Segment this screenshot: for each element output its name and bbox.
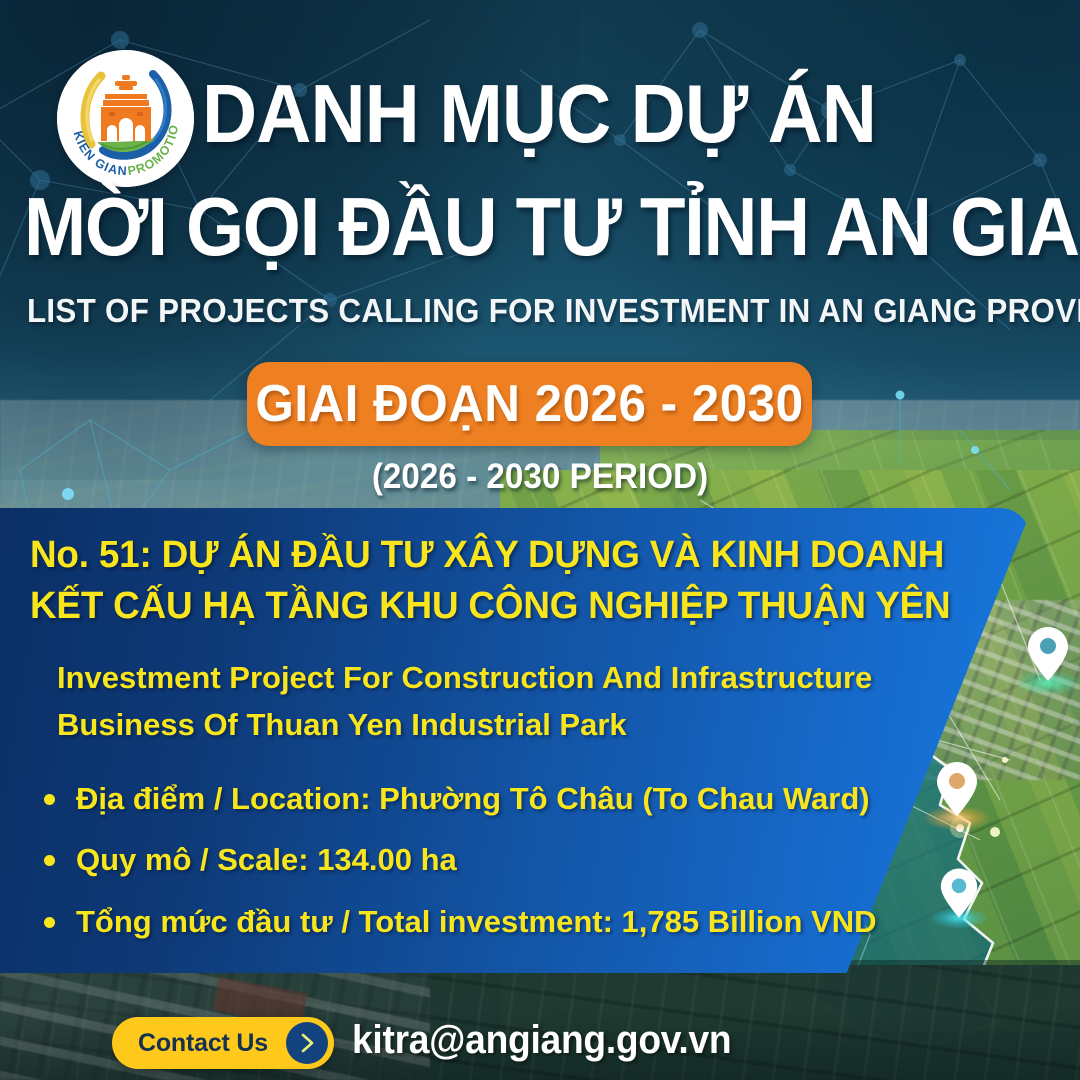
contact-us-label: Contact Us bbox=[138, 1029, 268, 1058]
map-pin-2 bbox=[935, 760, 979, 834]
map-pin-icon bbox=[935, 760, 979, 820]
map-pin-1 bbox=[1026, 625, 1070, 699]
list-item: Địa điểm / Location: Phường Tô Châu (To … bbox=[38, 780, 998, 818]
bullet-icon bbox=[44, 794, 55, 805]
map-pin-3 bbox=[939, 866, 979, 936]
project-panel-wrapper: No. 51: DỰ ÁN ĐẦU TƯ XÂY DỰNG VÀ KINH DO… bbox=[0, 508, 1080, 978]
contact-us-button[interactable]: Contact Us bbox=[112, 1017, 334, 1069]
bullet-icon bbox=[44, 855, 55, 866]
bullet-icon bbox=[44, 917, 55, 928]
fact-scale: Quy mô / Scale: 134.00 ha bbox=[76, 842, 457, 877]
chevron-right-glyph bbox=[295, 1031, 319, 1055]
project-title-vi: No. 51: DỰ ÁN ĐẦU TƯ XÂY DỰNG VÀ KINH DO… bbox=[30, 530, 981, 632]
period-label-en: (2026 - 2030 PERIOD) bbox=[27, 457, 1053, 497]
fact-total-investment: Tổng mức đầu tư / Total investment: 1,78… bbox=[76, 904, 876, 939]
poster-canvas: KIEN GIANG PROMOTION DANH MỤC DỰ ÁN MỜI … bbox=[0, 0, 1080, 1080]
contact-email[interactable]: kitra@angiang.gov.vn bbox=[352, 1018, 731, 1063]
list-item: Quy mô / Scale: 134.00 ha bbox=[38, 841, 998, 879]
period-badge-label: GIAI ĐOẠN 2026 - 2030 bbox=[255, 374, 803, 434]
map-pin-icon bbox=[1026, 625, 1070, 685]
logo-mark: KIEN GIANG PROMOTION bbox=[57, 50, 194, 187]
chevron-right-icon bbox=[286, 1022, 328, 1064]
project-title-en: Investment Project For Construction And … bbox=[57, 655, 987, 748]
map-pin-icon bbox=[939, 866, 979, 922]
page-title-vi-line1: DANH MỤC DỰ ÁN bbox=[202, 75, 993, 154]
project-panel-content: No. 51: DỰ ÁN ĐẦU TƯ XÂY DỰNG VÀ KINH DO… bbox=[0, 508, 1030, 973]
page-title-en: LIST OF PROJECTS CALLING FOR INVESTMENT … bbox=[27, 292, 1053, 330]
fact-location: Địa điểm / Location: Phường Tô Châu (To … bbox=[76, 781, 870, 816]
kien-giang-promotion-logo: KIEN GIANG PROMOTION bbox=[57, 50, 194, 187]
project-facts-list: Địa điểm / Location: Phường Tô Châu (To … bbox=[38, 780, 998, 964]
period-badge: GIAI ĐOẠN 2026 - 2030 bbox=[247, 362, 812, 446]
list-item: Tổng mức đầu tư / Total investment: 1,78… bbox=[38, 903, 998, 941]
page-title-vi-line2: MỜI GỌI ĐẦU TƯ TỈNH AN GIANG bbox=[24, 188, 978, 267]
